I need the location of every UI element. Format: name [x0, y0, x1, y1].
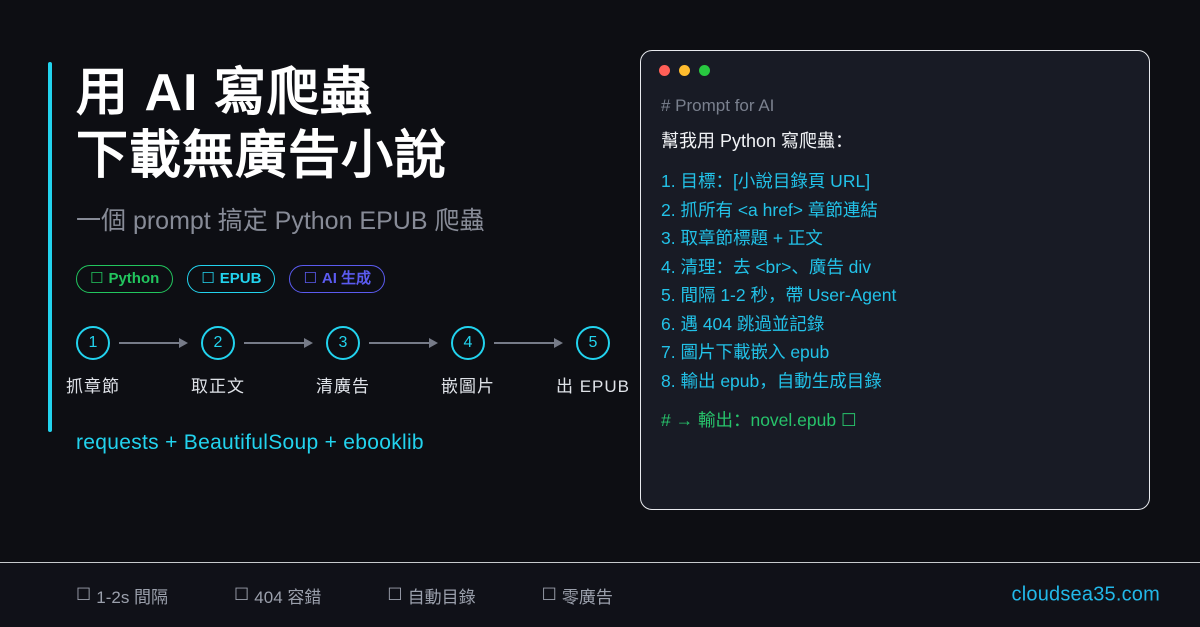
prompt-line-8: 8. 輸出 epub，自動生成目錄	[661, 367, 1129, 396]
ai-badge-icon: ☐	[303, 271, 316, 286]
step-4-number: 4	[451, 326, 485, 360]
footer-item-interval: ☐ 1-2s 間隔	[76, 583, 168, 608]
prompt-line-7: 7. 圖片下載嵌入 epub	[661, 338, 1129, 367]
step-2-number: 2	[201, 326, 235, 360]
footer-item-404-label: 404 容錯	[254, 583, 321, 608]
prompt-line-3: 3. 取章節標題 + 正文	[661, 224, 1129, 253]
step-1: 1 抓章節	[76, 326, 110, 397]
step-2: 2 取正文	[201, 326, 235, 397]
footer-item-404: ☐ 404 容錯	[234, 583, 321, 608]
window-controls	[641, 51, 1149, 76]
footer-feature-list: ☐ 1-2s 間隔 ☐ 404 容錯 ☐ 自動目錄 ☐ 零廣告	[0, 583, 613, 608]
badge-epub-label: EPUB	[220, 271, 262, 286]
prompt-code-panel: # Prompt for AI 幫我用 Python 寫爬蟲： 1. 目標：[小…	[640, 50, 1150, 510]
badge-python-label: Python	[108, 271, 159, 286]
footer-item-no-ads: ☐ 零廣告	[542, 583, 613, 608]
title-line-1: 用 AI 寫爬蟲	[76, 62, 676, 125]
step-3-label: 清廣告	[316, 372, 370, 397]
footer-bar: ☐ 1-2s 間隔 ☐ 404 容錯 ☐ 自動目錄 ☐ 零廣告 cloudsea…	[0, 563, 1200, 627]
step-1-label: 抓章節	[66, 372, 120, 397]
badge-epub[interactable]: ☐ EPUB	[187, 265, 275, 293]
step-3-number: 3	[326, 326, 360, 360]
prompt-line-6: 6. 遇 404 跳過並記錄	[661, 310, 1129, 339]
prompt-heading: 幫我用 Python 寫爬蟲：	[661, 128, 1129, 156]
badge-group: ☐ Python ☐ EPUB ☐ AI 生成	[76, 265, 676, 293]
step-5: 5 出 EPUB	[576, 326, 610, 397]
arrow-icon-4	[485, 326, 576, 360]
footer-item-interval-label: 1-2s 間隔	[96, 583, 168, 608]
site-brand[interactable]: cloudsea35.com	[1012, 584, 1160, 607]
prompt-line-1: 1. 目標：[小說目錄頁 URL]	[661, 167, 1129, 196]
epub-badge-icon: ☐	[201, 271, 214, 286]
prompt-comment: # Prompt for AI	[661, 93, 1129, 119]
page-subtitle: 一個 prompt 搞定 Python EPUB 爬蟲	[76, 205, 676, 238]
python-badge-icon: ☐	[90, 271, 103, 286]
title-line-2: 下載無廣告小說	[76, 125, 676, 188]
prompt-line-5: 5. 間隔 1-2 秒，帶 User-Agent	[661, 281, 1129, 310]
prompt-line-2: 2. 抓所有 <a href> 章節連結	[661, 196, 1129, 225]
error-tolerance-icon: ☐	[234, 585, 249, 605]
prompt-output-line: # → 輸出：novel.epub ☐	[661, 407, 1129, 434]
arrow-icon-3	[360, 326, 451, 360]
badge-python[interactable]: ☐ Python	[76, 265, 173, 293]
badge-ai-label: AI 生成	[322, 271, 371, 286]
slide-canvas: 用 AI 寫爬蟲 下載無廣告小說 一個 prompt 搞定 Python EPU…	[0, 0, 1200, 627]
close-dot-icon[interactable]	[659, 65, 670, 76]
minimize-dot-icon[interactable]	[679, 65, 690, 76]
step-5-number: 5	[576, 326, 610, 360]
interval-icon: ☐	[76, 585, 91, 605]
arrow-icon-1	[110, 326, 201, 360]
step-4: 4 嵌圖片	[451, 326, 485, 397]
toc-icon: ☐	[387, 585, 402, 605]
step-4-label: 嵌圖片	[441, 372, 495, 397]
page-title: 用 AI 寫爬蟲 下載無廣告小說	[76, 62, 676, 189]
tech-stack-line: requests + BeautifulSoup + ebooklib	[76, 431, 676, 455]
step-flow: 1 抓章節 2 取正文 3 清廣告 4 嵌圖片 5 出 EPUB	[76, 326, 676, 397]
step-5-label: 出 EPUB	[556, 372, 630, 397]
accent-bar	[48, 62, 52, 432]
step-2-label: 取正文	[191, 372, 245, 397]
no-ads-icon: ☐	[542, 585, 557, 605]
step-1-number: 1	[76, 326, 110, 360]
footer-item-no-ads-label: 零廣告	[562, 583, 613, 608]
arrow-icon-2	[235, 326, 326, 360]
badge-ai[interactable]: ☐ AI 生成	[289, 265, 385, 293]
prompt-line-4: 4. 清理：去 <br>、廣告 div	[661, 253, 1129, 282]
prompt-body: # Prompt for AI 幫我用 Python 寫爬蟲： 1. 目標：[小…	[641, 76, 1149, 434]
step-3: 3 清廣告	[326, 326, 360, 397]
maximize-dot-icon[interactable]	[699, 65, 710, 76]
footer-item-toc-label: 自動目錄	[408, 583, 476, 608]
hero-column: 用 AI 寫爬蟲 下載無廣告小說 一個 prompt 搞定 Python EPU…	[76, 62, 676, 455]
footer-item-toc: ☐ 自動目錄	[387, 583, 475, 608]
